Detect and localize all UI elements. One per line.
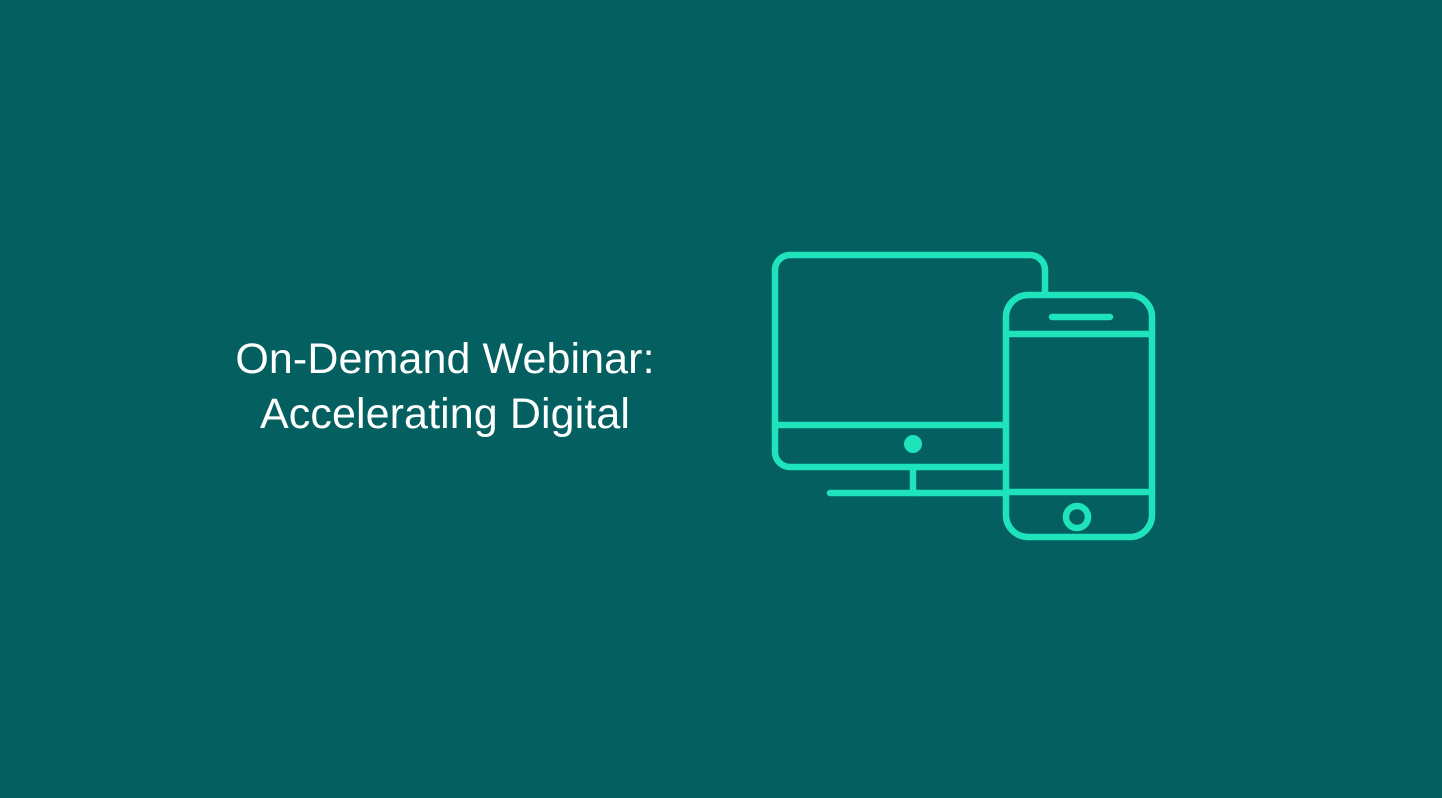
headline-line-2: Accelerating Digital (0, 387, 890, 442)
headline-block: On-Demand Webinar: Accelerating Digital (0, 332, 890, 442)
monitor-power-indicator-icon (904, 435, 922, 453)
headline-line-1: On-Demand Webinar: (0, 332, 890, 387)
device-illustration (760, 236, 1170, 556)
webinar-promo-banner: On-Demand Webinar: Accelerating Digital (0, 0, 1442, 798)
